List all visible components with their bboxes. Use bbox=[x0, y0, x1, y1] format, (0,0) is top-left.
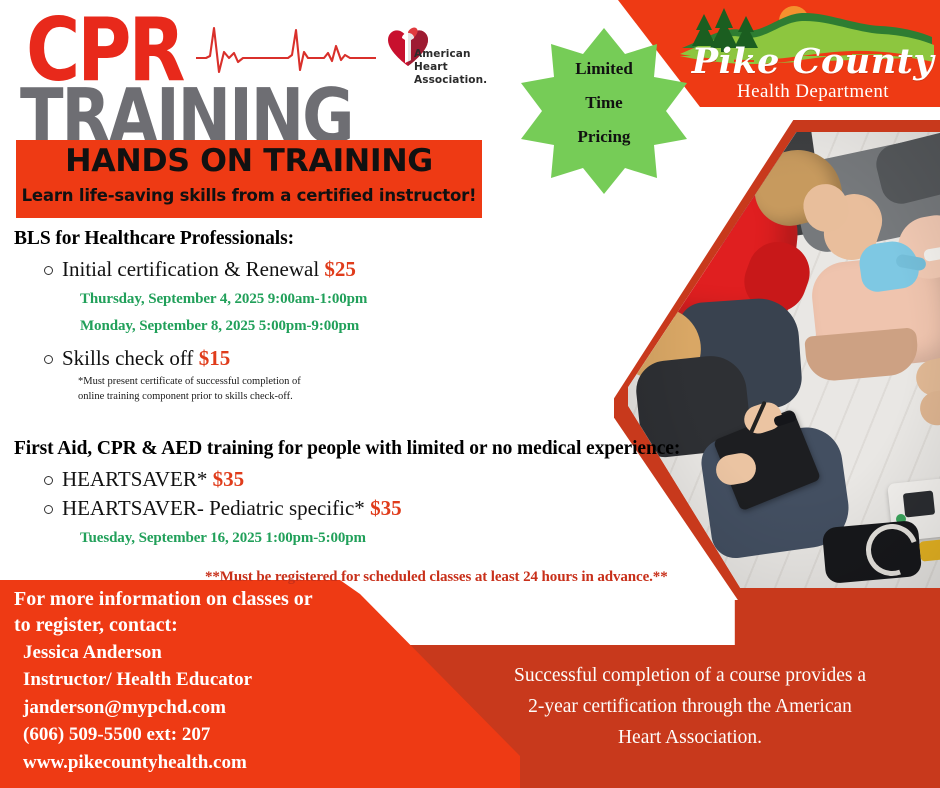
contact-website[interactable]: www.pikecountyhealth.com bbox=[23, 749, 374, 777]
aha-text-line3: Association. bbox=[414, 74, 487, 87]
list-item: Initial certification & Renewal $25 bbox=[62, 256, 760, 284]
course-label: Skills check off bbox=[62, 346, 193, 370]
contact-info: For more information on classes or to re… bbox=[14, 586, 374, 777]
aha-text-line1: American bbox=[414, 48, 487, 61]
certification-line1: Successful completion of a course provid… bbox=[470, 660, 910, 691]
org-department: Health Department bbox=[688, 82, 938, 101]
course-label: Initial certification & Renewal bbox=[62, 257, 319, 281]
contact-phone[interactable]: (606) 509-5500 ext: 207 bbox=[23, 721, 374, 749]
registration-warning: **Must be registered for scheduled class… bbox=[205, 569, 760, 586]
banner-title: HANDS ON TRAINING bbox=[11, 143, 486, 179]
contact-email[interactable]: janderson@mypchd.com bbox=[23, 694, 374, 722]
certification-line2: 2-year certification through the America… bbox=[470, 691, 910, 722]
badge-text: Limited Time Pricing bbox=[521, 60, 687, 162]
org-name: Pike County bbox=[688, 44, 938, 79]
course-price: $15 bbox=[199, 346, 231, 370]
course-price: $25 bbox=[324, 257, 356, 281]
bottom-dark-panel-top bbox=[400, 600, 940, 646]
aha-logo-text: American Heart Association. bbox=[414, 48, 487, 86]
list-item: HEARTSAVER* $35 bbox=[62, 466, 760, 494]
list-item: Skills check off $15 bbox=[62, 345, 760, 373]
aha-text-line2: Heart bbox=[414, 61, 487, 74]
course-listings: BLS for Healthcare Professionals: Initia… bbox=[0, 228, 760, 586]
class-date: Tuesday, September 16, 2025 1:00pm-5:00p… bbox=[80, 530, 760, 547]
contact-name: Jessica Anderson bbox=[23, 639, 374, 667]
class-date: Monday, September 8, 2025 5:00pm-9:00pm bbox=[80, 318, 760, 335]
certification-line3: Heart Association. bbox=[470, 722, 910, 753]
contact-intro-line2: to register, contact: bbox=[14, 612, 374, 638]
banner-subtitle: Learn life-saving skills from a certifie… bbox=[16, 186, 482, 205]
badge-line1: Limited bbox=[521, 60, 687, 77]
certification-note: Successful completion of a course provid… bbox=[470, 660, 910, 754]
section-heading-bls: BLS for Healthcare Professionals: bbox=[14, 228, 760, 250]
course-price: $35 bbox=[370, 496, 402, 520]
list-item: HEARTSAVER- Pediatric specific* $35 bbox=[62, 495, 760, 523]
section-heading-firstaid: First Aid, CPR & AED training for people… bbox=[14, 438, 760, 460]
course-label: HEARTSAVER* bbox=[62, 467, 207, 491]
class-date: Thursday, September 4, 2025 9:00am-1:00p… bbox=[80, 291, 760, 308]
footnote-line1: *Must present certificate of successful … bbox=[78, 375, 760, 389]
contact-intro-line1: For more information on classes or bbox=[14, 586, 374, 612]
cpr-training-flyer: Pike County Health Department bbox=[0, 0, 940, 788]
badge-line3: Pricing bbox=[521, 128, 687, 145]
badge-line2: Time bbox=[521, 94, 687, 111]
skills-footnote: *Must present certificate of successful … bbox=[78, 375, 760, 403]
footnote-line2: online training component prior to skill… bbox=[78, 390, 760, 404]
contact-role: Instructor/ Health Educator bbox=[23, 666, 374, 694]
course-price: $35 bbox=[213, 467, 245, 491]
course-label: HEARTSAVER- Pediatric specific* bbox=[62, 496, 365, 520]
